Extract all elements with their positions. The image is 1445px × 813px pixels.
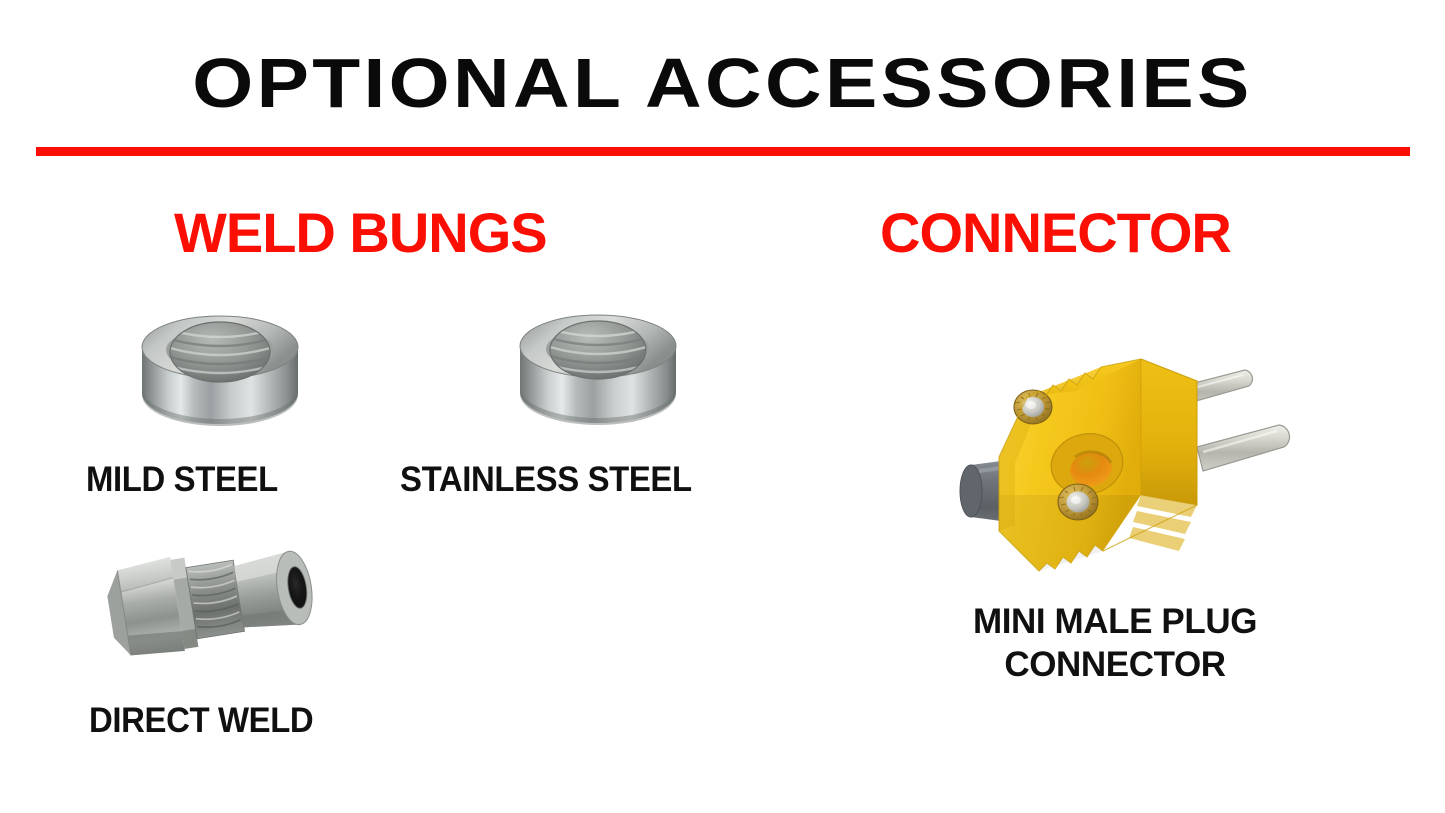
caption-mini-male-plug-connector: MINI MALE PLUG CONNECTOR	[930, 600, 1300, 686]
section-heading-connector: CONNECTOR	[880, 203, 1231, 263]
caption-direct-weld: DIRECT WELD	[89, 700, 313, 741]
section-heading-weld-bungs: WELD BUNGS	[174, 203, 547, 263]
caption-stainless-steel: STAINLESS STEEL	[400, 459, 692, 500]
caption-line-1: MINI MALE PLUG	[930, 600, 1300, 643]
product-image-mini-male-plug-connector	[935, 345, 1305, 575]
caption-line-2: CONNECTOR	[930, 643, 1300, 686]
title-divider-rule	[36, 147, 1410, 156]
infographic-canvas: OPTIONAL ACCESSORIES WELD BUNGS CONNECTO…	[0, 0, 1445, 813]
product-image-stainless-steel-bung	[500, 300, 700, 445]
page-title: OPTIONAL ACCESSORIES	[0, 44, 1445, 122]
product-image-mild-steel-bung	[120, 300, 320, 445]
caption-mild-steel: MILD STEEL	[86, 459, 278, 500]
product-image-direct-weld-fitting	[100, 532, 350, 677]
